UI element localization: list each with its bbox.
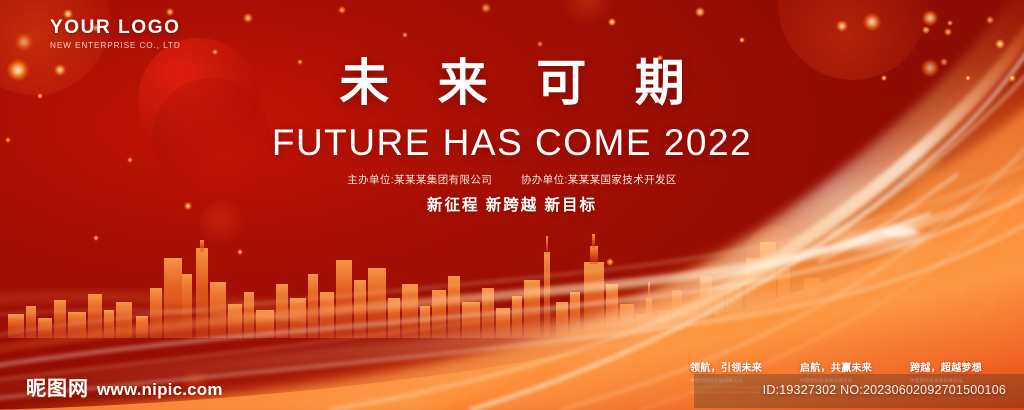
brand-logo: YOUR LOGO NEW ENTERPRISE CO., LTD [50,18,181,50]
site-watermark: 昵图网 www.nipic.com [26,378,223,398]
poster-canvas: YOUR LOGO NEW ENTERPRISE CO., LTD 未 来 可 … [0,0,1024,410]
site-url: www.nipic.com [97,381,223,398]
logo-title: YOUR LOGO [50,18,181,37]
bottom-slogan-title: 启航，共赢未来 [800,364,900,374]
page-title-en: FUTURE HAS COME 2022 [0,124,1024,161]
bottom-slogan-title: 领航，引领未来 [690,364,790,374]
bottom-slogan-title: 跨越，超越梦想 [910,364,1010,374]
co-organizer-text: 协办单位:某某某国家技术开发区 [521,174,677,186]
logo-subtitle: NEW ENTERPRISE CO., LTD [50,42,181,50]
organizer-text: 主办单位:某某某集团有限公司 [347,174,492,186]
main-slogan: 新征程 新跨越 新目标 [0,198,1024,214]
page-title-cn: 未 来 可 期 [0,58,1024,108]
asset-id-watermark: ID:19327302 NO:20230602092701500106 [763,384,1006,397]
organizer-line: 主办单位:某某某集团有限公司 协办单位:某某某国家技术开发区 [0,175,1024,186]
site-name-cn: 昵图网 [26,378,89,398]
